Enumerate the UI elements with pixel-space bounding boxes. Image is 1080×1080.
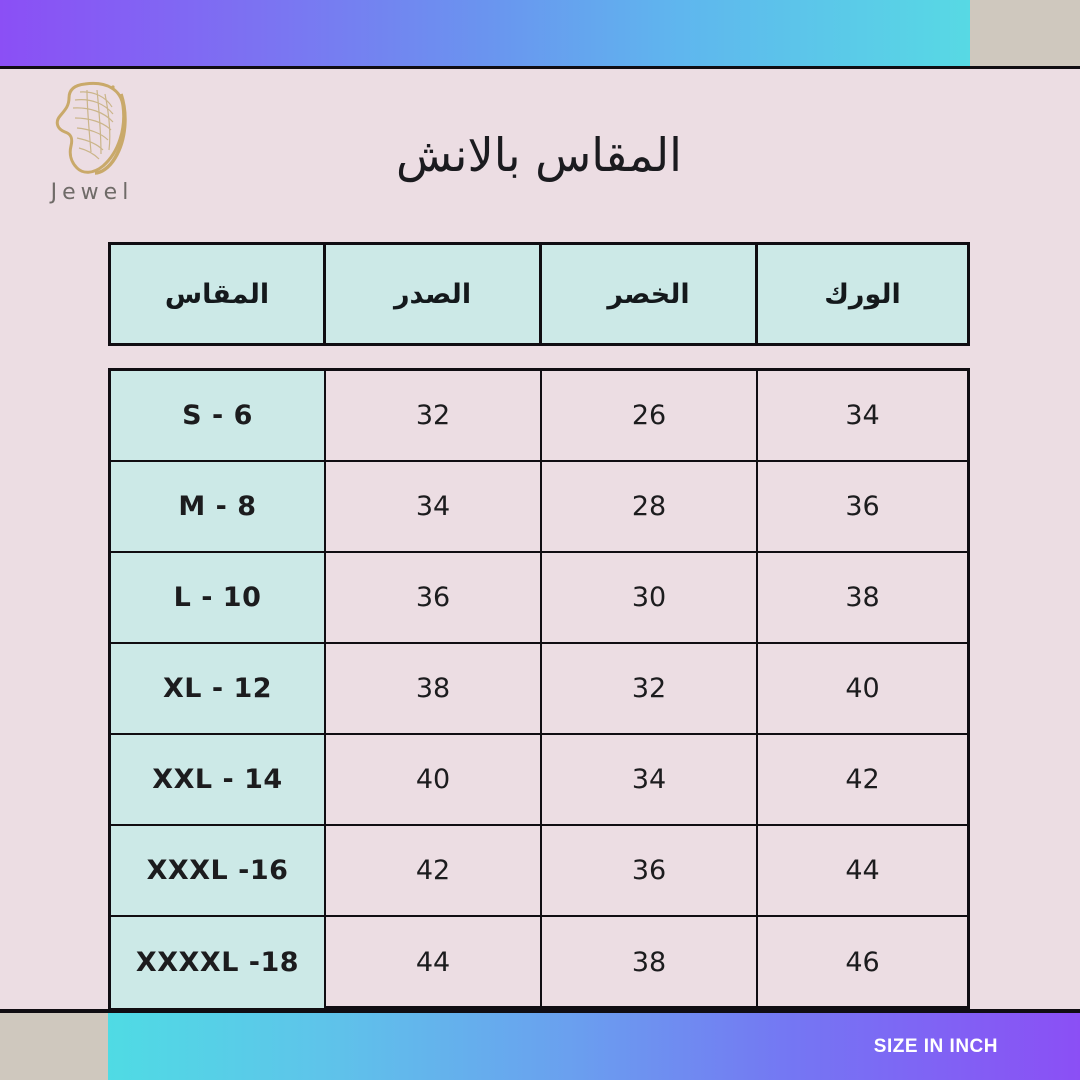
cell-chest: 36 [326,553,542,642]
column-header-size: المقاس [111,245,326,343]
cell-size: XL - 12 [111,644,326,733]
cell-size: XXL - 14 [111,735,326,824]
unit-label: SIZE IN INCH [874,1036,1080,1058]
cell-chest: 34 [326,462,542,551]
table-row: S - 6 32 26 34 [111,371,967,462]
table-row: L - 10 36 30 38 [111,553,967,644]
cell-waist: 38 [542,917,758,1008]
cell-chest: 32 [326,371,542,460]
table-row: M - 8 34 28 36 [111,462,967,553]
top-gradient-bar [0,0,970,66]
cell-hip: 34 [758,371,967,460]
cell-hip: 38 [758,553,967,642]
cell-chest: 38 [326,644,542,733]
page-title: المقاس بالانش [108,128,970,182]
table-row: XXL - 14 40 34 42 [111,735,967,826]
cell-hip: 42 [758,735,967,824]
table-row: XXXXL -18 44 38 46 [111,917,967,1008]
cell-size: M - 8 [111,462,326,551]
cell-hip: 40 [758,644,967,733]
cell-hip: 36 [758,462,967,551]
column-header-hip: الورك [758,245,967,343]
brand-name: Jewel [34,180,150,205]
bottom-gradient-bar: SIZE IN INCH [108,1013,1080,1080]
column-header-waist: الخصر [542,245,758,343]
cell-waist: 30 [542,553,758,642]
cell-size: L - 10 [111,553,326,642]
cell-waist: 36 [542,826,758,915]
size-chart-canvas: Jewel المقاس بالانش المقاس الصدر الخصر ا… [0,0,1080,1080]
cell-waist: 32 [542,644,758,733]
cell-chest: 42 [326,826,542,915]
size-table-body: S - 6 32 26 34 M - 8 34 28 36 L - 10 36 … [108,368,970,1009]
table-row: XXXL -16 42 36 44 [111,826,967,917]
top-divider-rule [0,66,1080,69]
cell-size: S - 6 [111,371,326,460]
cell-waist: 34 [542,735,758,824]
cell-waist: 28 [542,462,758,551]
cell-hip: 46 [758,917,967,1008]
table-header-row: المقاس الصدر الخصر الورك [108,242,970,346]
cell-hip: 44 [758,826,967,915]
cell-chest: 40 [326,735,542,824]
cell-chest: 44 [326,917,542,1008]
cell-size: XXXXL -18 [111,917,326,1008]
cell-waist: 26 [542,371,758,460]
table-row: XL - 12 38 32 40 [111,644,967,735]
cell-size: XXXL -16 [111,826,326,915]
column-header-chest: الصدر [326,245,542,343]
